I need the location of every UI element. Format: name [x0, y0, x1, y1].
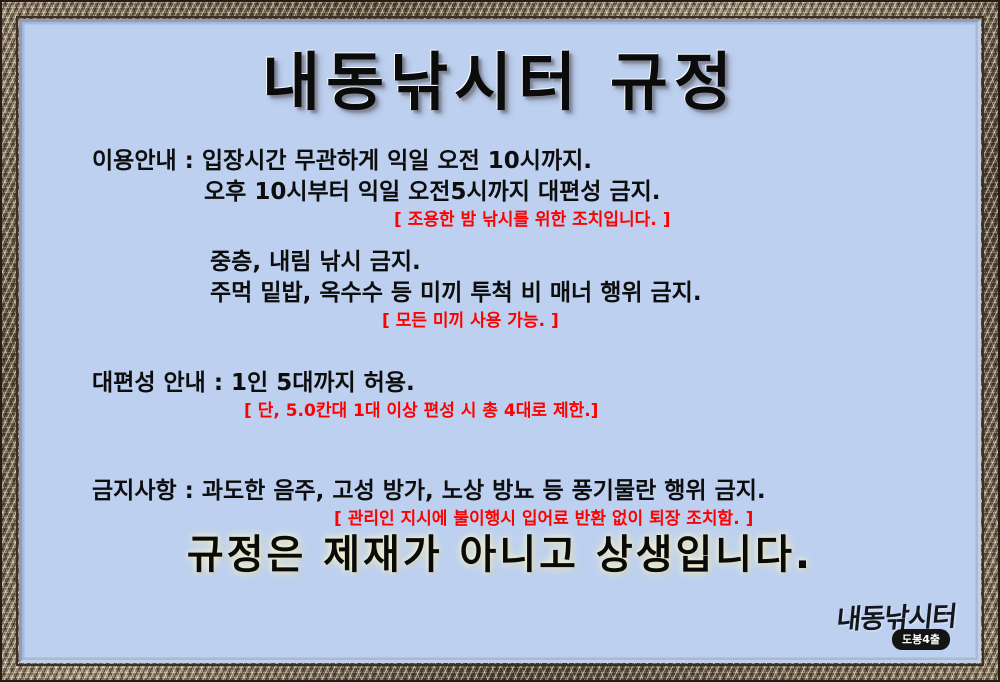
- rule-line-bait-ban: 주먹 밑밥, 옥수수 등 미끼 투척 비 매너 행위 금지.: [24, 278, 976, 309]
- rules-section-usage: 이용안내 : 입장시간 무관하게 익일 오전 10시까지. 오후 10시부터 익…: [24, 146, 976, 233]
- closing-slogan: 규정은 제재가 아니고 상생입니다.: [24, 522, 976, 580]
- section-spacer: [24, 424, 976, 476]
- rule-note-usage: [ 조용한 밤 낚시를 위한 조치입니다. ]: [24, 208, 976, 233]
- sign-board-face: 내동낚시터 규정 이용안내 : 입장시간 무관하게 익일 오전 10시까지. 오…: [24, 24, 976, 658]
- section-spacer: [24, 233, 976, 247]
- rule-heading-rod-allowance: 대편성 안내 : 1인 5대까지 허용.: [24, 368, 976, 399]
- rule-heading-prohibited: 금지사항 : 과도한 음주, 고성 방가, 노상 방뇨 등 풍기물란 행위 금지…: [24, 476, 976, 507]
- section-spacer: [24, 334, 976, 368]
- fishing-ground-rules-sign: 내동낚시터 규정 이용안내 : 입장시간 무관하게 익일 오전 10시까지. 오…: [0, 0, 1000, 682]
- rule-note-bait: [ 모든 미끼 사용 가능. ]: [24, 309, 976, 334]
- rule-heading-usage: 이용안내 : 입장시간 무관하게 익일 오전 10시까지.: [24, 146, 976, 177]
- rules-body: 이용안내 : 입장시간 무관하게 익일 오전 10시까지. 오후 10시부터 익…: [24, 146, 976, 532]
- brand-badge: 도봉4출: [892, 629, 950, 650]
- rule-note-rod-allowance: [ 단, 5.0칸대 1대 이상 편성 시 총 4대로 제한.]: [24, 399, 976, 424]
- brand-logo: 내동낚시터 도봉4출: [782, 594, 962, 656]
- rules-section-rod-allowance: 대편성 안내 : 1인 5대까지 허용. [ 단, 5.0칸대 1대 이상 편성…: [24, 368, 976, 424]
- rules-section-fishing-method: 중층, 내림 낚시 금지. 주먹 밑밥, 옥수수 등 미끼 투척 비 매너 행위…: [24, 247, 976, 334]
- rule-line-usage-night: 오후 10시부터 익일 오전5시까지 대편성 금지.: [24, 177, 976, 208]
- rule-line-midwater-ban: 중층, 내림 낚시 금지.: [24, 247, 976, 278]
- page-title: 내동낚시터 규정: [24, 50, 976, 116]
